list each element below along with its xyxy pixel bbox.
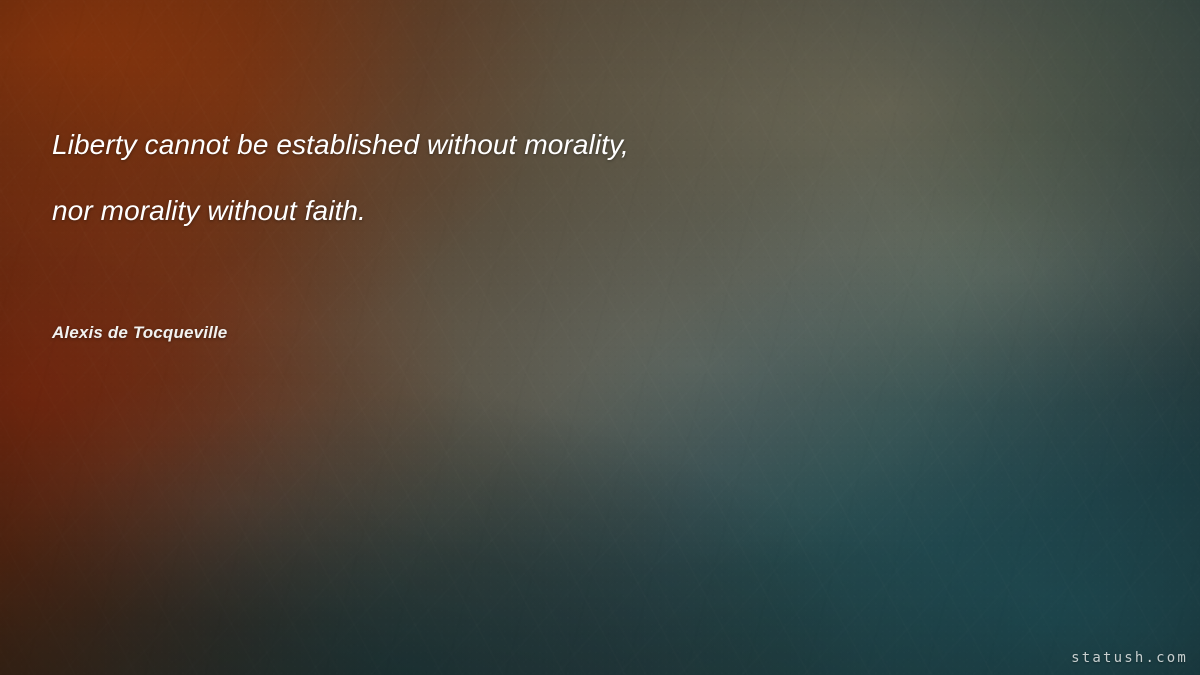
quote-card: Liberty cannot be established without mo… [0, 0, 1200, 675]
card-content: Liberty cannot be established without mo… [0, 0, 1200, 675]
quote-text: Liberty cannot be established without mo… [52, 112, 952, 244]
author-attribution: Alexis de Tocqueville [52, 323, 227, 343]
site-watermark: statush.com [1071, 650, 1188, 666]
quote-line-1: Liberty cannot be established without mo… [52, 112, 952, 178]
quote-line-2: nor morality without faith. [52, 178, 952, 244]
